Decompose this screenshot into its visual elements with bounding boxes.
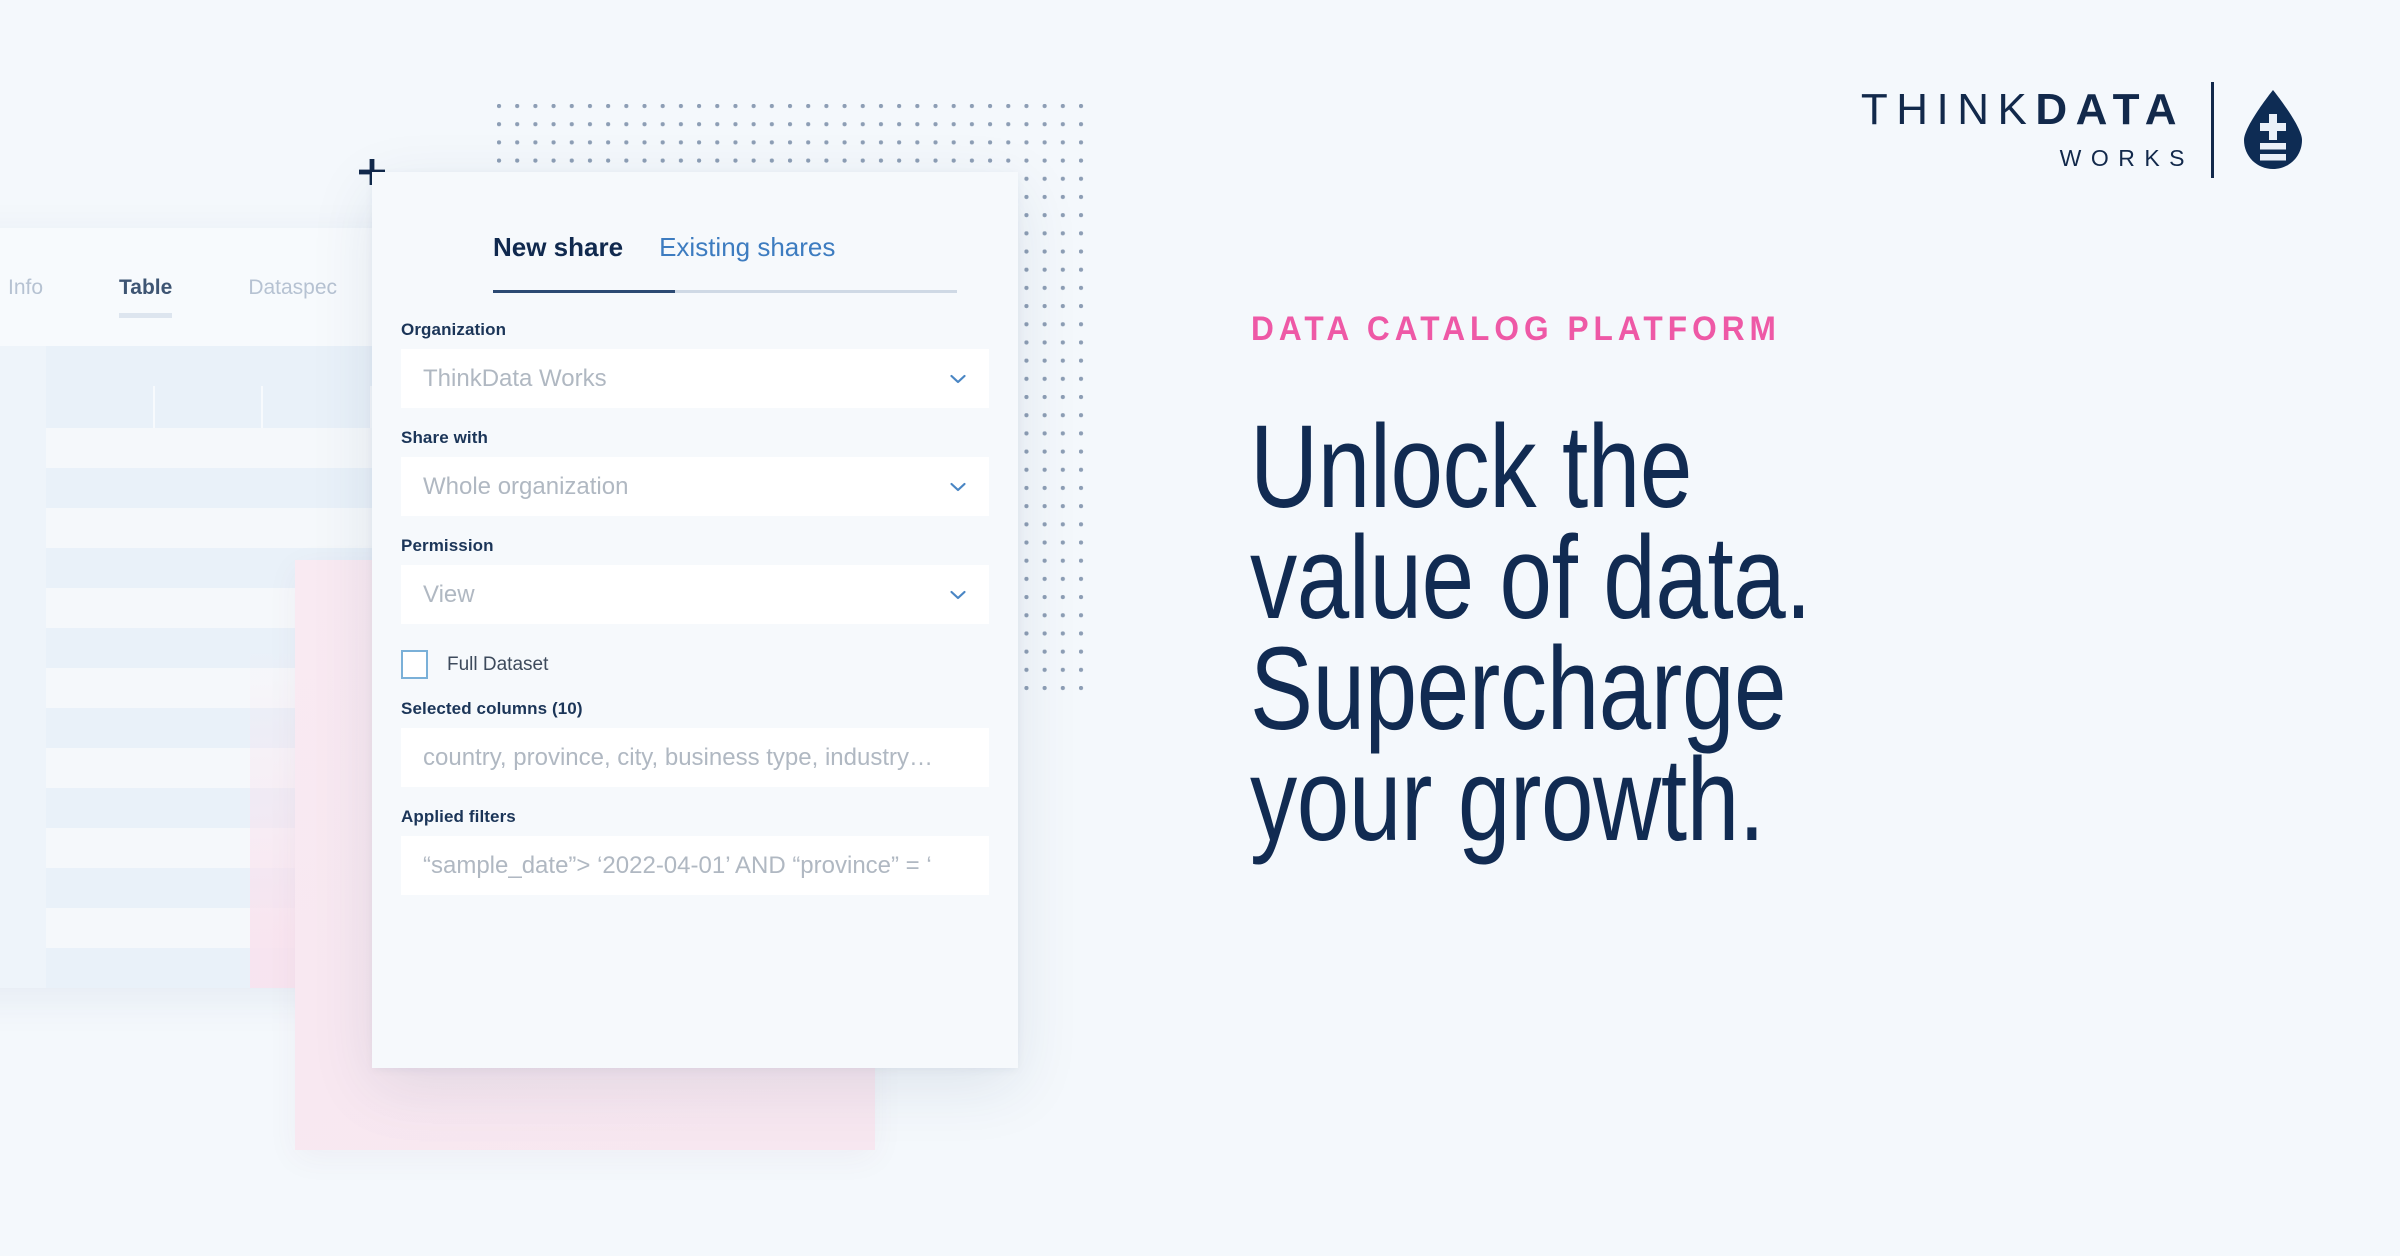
logo-divider — [2211, 82, 2214, 178]
logo-wordmark: THINK DATA WORKS — [1861, 88, 2211, 172]
label-organization: Organization — [401, 320, 989, 340]
input-applied-filters[interactable]: “sample_date”> ‘2022-04-01’ AND “provinc… — [401, 836, 989, 895]
value-share-with: Whole organization — [423, 473, 628, 501]
background-sidebar — [0, 346, 46, 988]
tab-new-share[interactable]: New share — [493, 234, 623, 260]
label-applied-filters: Applied filters — [401, 807, 989, 827]
thinkdata-works-logo: THINK DATA WORKS — [1861, 82, 2306, 178]
label-permission: Permission — [401, 536, 989, 556]
droplet-plus-equals-icon — [2240, 89, 2306, 171]
table-column-cell — [263, 386, 372, 428]
background-tab-table[interactable]: Table — [119, 276, 172, 318]
tab-existing-shares[interactable]: Existing shares — [659, 234, 835, 260]
chevron-down-icon[interactable] — [947, 584, 969, 606]
headline-line-2: value of data. — [1250, 523, 2066, 634]
modal-tab-bar: New share Existing shares — [401, 234, 989, 260]
value-selected-columns: country, province, city, business type, … — [423, 744, 933, 772]
input-selected-columns[interactable]: country, province, city, business type, … — [401, 728, 989, 787]
chevron-down-icon[interactable] — [947, 476, 969, 498]
checkbox-row-full-dataset[interactable]: Full Dataset — [401, 650, 989, 679]
logo-primary-line: THINK DATA — [1861, 88, 2185, 132]
chevron-down-icon[interactable] — [947, 368, 969, 390]
value-applied-filters: “sample_date”> ‘2022-04-01’ AND “provinc… — [423, 852, 932, 880]
table-column-cell — [46, 386, 155, 428]
label-selected-columns: Selected columns (10) — [401, 699, 989, 719]
field-permission: Permission View — [401, 536, 989, 624]
label-full-dataset: Full Dataset — [447, 654, 548, 676]
headline-line-1: Unlock the — [1250, 412, 2066, 523]
page-headline: Unlock the value of data. Supercharge yo… — [1250, 412, 2066, 856]
field-selected-columns: Selected columns (10) country, province,… — [401, 699, 989, 787]
tab-underline-track — [493, 290, 957, 293]
table-column-cell — [155, 386, 264, 428]
value-organization: ThinkData Works — [423, 365, 607, 393]
logo-think-text: THINK — [1861, 88, 2036, 132]
checkbox-full-dataset[interactable] — [401, 650, 428, 679]
background-tab-dataspec[interactable]: Dataspec — [248, 276, 337, 318]
select-permission[interactable]: View — [401, 565, 989, 624]
share-dataset-modal: New share Existing shares Organization T… — [372, 172, 1018, 1068]
logo-data-text: DATA — [2035, 88, 2185, 132]
eyebrow-text: DATA CATALOG PLATFORM — [1251, 310, 1781, 349]
tab-active-indicator — [493, 290, 675, 293]
background-tab-info[interactable]: Info — [8, 276, 43, 318]
field-applied-filters: Applied filters “sample_date”> ‘2022-04-… — [401, 807, 989, 895]
page-canvas: Info Table Dataspec — [0, 0, 2400, 1256]
label-share-with: Share with — [401, 428, 989, 448]
field-organization: Organization ThinkData Works — [401, 320, 989, 408]
select-share-with[interactable]: Whole organization — [401, 457, 989, 516]
headline-line-3: Supercharge — [1250, 634, 2066, 745]
logo-works-text: WORKS — [2060, 145, 2194, 172]
field-share-with: Share with Whole organization — [401, 428, 989, 516]
value-permission: View — [423, 581, 475, 609]
select-organization[interactable]: ThinkData Works — [401, 349, 989, 408]
headline-line-4: your growth. — [1250, 745, 2066, 856]
